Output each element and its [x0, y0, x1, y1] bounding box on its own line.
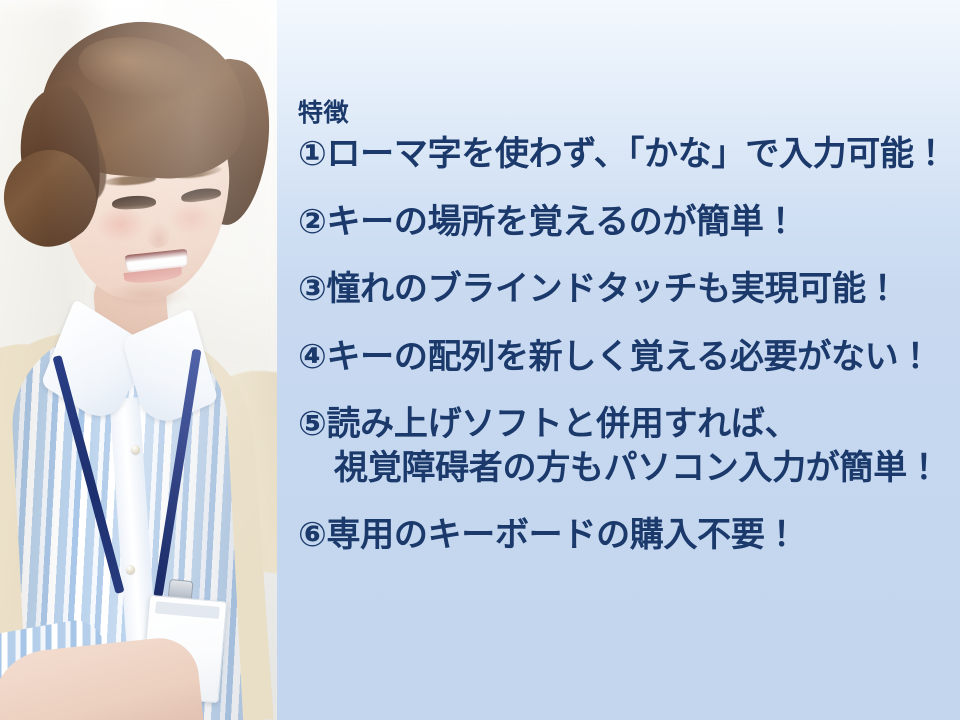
feature-item-1-text: ①ローマ字を使わず、「かな」で入力可能！ — [298, 135, 947, 173]
features-text-block: 特徴 ①ローマ字を使わず、「かな」で入力可能！ ②キーの場所を覚えるのが簡単！ … — [298, 98, 950, 558]
feature-item-5-continuation: 視覚障碍者の方もパソコン入力が簡単！ — [298, 447, 950, 491]
features-list: ①ローマ字を使わず、「かな」で入力可能！ ②キーの場所を覚えるのが簡単！ ③憧れ… — [298, 133, 950, 558]
feature-item-4: ④キーの配列を新しく覚える必要がない！ — [298, 336, 950, 380]
photo-woman-at-laptop — [0, 0, 277, 720]
nose — [146, 222, 170, 248]
chin-shadow — [104, 282, 190, 308]
feature-item-6-text: ⑥専用のキーボードの購入不要！ — [298, 516, 798, 554]
feature-item-2-text: ②キーの場所を覚えるのが簡単！ — [298, 203, 797, 241]
features-heading: 特徴 — [298, 98, 950, 129]
feature-item-3: ③憧れのブラインドタッチも実現可能！ — [298, 268, 950, 312]
cheek-left — [96, 205, 146, 243]
feature-item-5: ⑤読み上げソフトと併用すれば、 視覚障碍者の方もパソコン入力が簡単！ — [298, 403, 950, 490]
feature-item-5-text: ⑤読み上げソフトと併用すれば、 — [298, 405, 798, 443]
feature-item-2: ②キーの場所を覚えるのが簡単！ — [298, 201, 950, 245]
cheek-right — [168, 200, 214, 236]
blouse-button-lower — [126, 565, 135, 574]
feature-item-3-text: ③憧れのブラインドタッチも実現可能！ — [298, 270, 899, 308]
feature-item-4-text: ④キーの配列を新しく覚える必要がない！ — [298, 338, 932, 376]
feature-item-6: ⑥専用のキーボードの購入不要！ — [298, 514, 950, 558]
slide-canvas: 特徴 ①ローマ字を使わず、「かな」で入力可能！ ②キーの場所を覚えるのが簡単！ … — [0, 0, 960, 720]
features-panel: 特徴 ①ローマ字を使わず、「かな」で入力可能！ ②キーの場所を覚えるのが簡単！ … — [277, 0, 960, 720]
blouse-button-upper — [131, 445, 140, 454]
feature-item-1: ①ローマ字を使わず、「かな」で入力可能！ — [298, 133, 950, 177]
